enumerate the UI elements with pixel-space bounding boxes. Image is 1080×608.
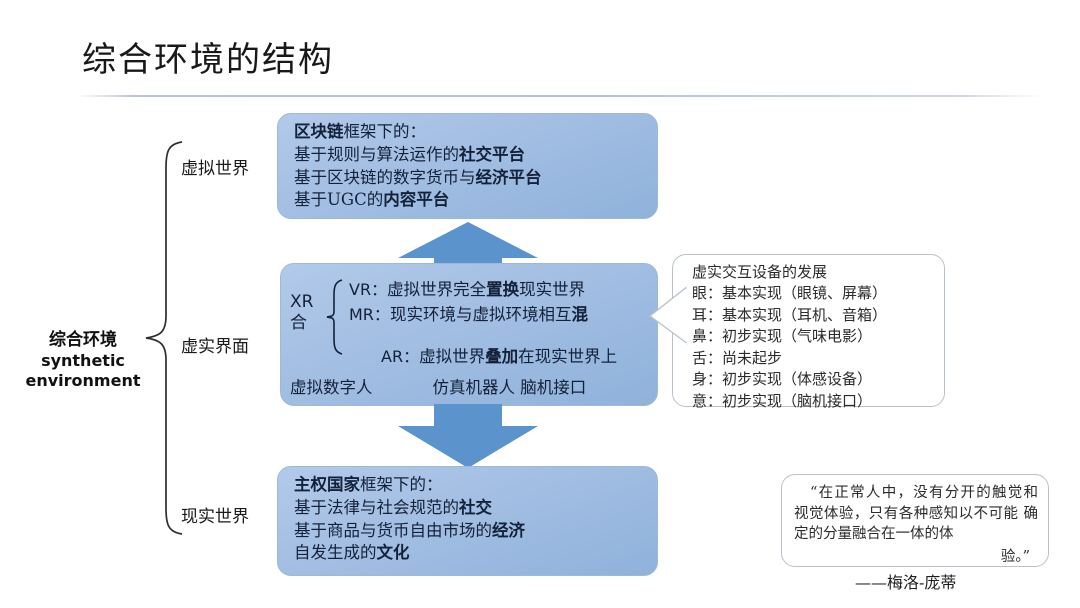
real-line-3: 基于商品与货币自由市场的经济 [294,520,657,543]
list-item: 舌：尚未起步 [692,348,942,369]
list-item: 意：初步实现（脑机接口） [692,391,942,412]
hierarchy-brace-icon [142,138,186,538]
devices-list: 虚实交互设备的发展 眼：基本实现（眼镜、屏幕） 耳：基本实现（耳机、音箱） 鼻：… [692,262,942,412]
root-label: 综合环境 synthetic environment [22,330,144,391]
xr-line-mr: MR：现实环境与虚拟环境相互混 [349,301,588,325]
xr-interface-box[interactable]: XR 合 VR：虚拟世界完全置换现实世界 MR：现实环境与虚拟环境相互混 AR：… [280,263,658,406]
real-line-4: 自发生成的文化 [294,542,657,565]
arrow-down-icon [398,404,538,468]
devices-heading: 虚实交互设备的发展 [692,262,942,283]
quote-callout[interactable]: “在正常人中，没有分开的触觉和 视觉体验，只有各种感知以不可能 确定的分量融合在… [781,474,1049,567]
root-label-en-1: synthetic [22,351,144,371]
xr-footer-term-1: 虚拟数字人 [290,374,373,398]
list-item: 鼻：初步实现（气味电影） [692,326,942,347]
virtual-world-lines: 区块链框架下的： 基于规则与算法运作的社交平台 基于区块链的数字货币与经济平台 … [278,114,657,212]
root-label-cn: 综合环境 [22,330,144,351]
xr-label: XR 合 [290,292,313,333]
title-divider [76,95,1042,97]
real-world-box[interactable]: 主权国家框架下的： 基于法律与社会规范的社交 基于商品与货币自由市场的经济 自发… [277,466,658,576]
xr-footer-term-2: 仿真机器人 脑机接口 [433,374,587,398]
virtual-line-2: 基于规则与算法运作的社交平台 [294,144,657,167]
real-line-2: 基于法律与社会规范的社交 [294,497,657,520]
xr-line-ar: AR：虚拟世界叠加在现实世界上 [381,343,617,367]
virtual-world-box[interactable]: 区块链框架下的： 基于规则与算法运作的社交平台 基于区块链的数字货币与经济平台 … [277,113,658,219]
xr-line-vr: VR：虚拟世界完全置换现实世界 [349,276,585,300]
list-item: 身：初步实现（体感设备） [692,369,942,390]
quote-attribution: ——梅洛-庞蒂 [855,569,956,593]
real-line-1: 主权国家框架下的： [294,474,657,497]
list-item: 眼：基本实现（眼镜、屏幕） [692,283,942,304]
quote-text: “在正常人中，没有分开的触觉和 视觉体验，只有各种感知以不可能 确定的分量融合在… [782,475,1048,545]
real-world-lines: 主权国家框架下的： 基于法律与社会规范的社交 基于商品与货币自由市场的经济 自发… [278,467,657,565]
quote-text-end: 验。” [782,545,1048,566]
devices-callout[interactable]: 虚实交互设备的发展 眼：基本实现（眼镜、屏幕） 耳：基本实现（耳机、音箱） 鼻：… [648,254,945,407]
list-item: 耳：基本实现（耳机、音箱） [692,305,942,326]
page-title: 综合环境的结构 [82,32,334,81]
virtual-line-3: 基于区块链的数字货币与经济平台 [294,167,657,190]
slide-canvas: 综合环境的结构 综合环境 synthetic environment 虚拟世界 … [0,0,1080,608]
virtual-line-4: 基于UGC的内容平台 [294,189,657,212]
tier-label-interface: 虚实界面 [181,332,249,357]
arrow-up-icon [398,222,538,266]
callout-tail-icon [648,284,688,346]
tier-label-real-world: 现实世界 [181,502,249,527]
xr-brace-icon [325,278,347,356]
root-label-en-2: environment [22,371,144,391]
virtual-line-1: 区块链框架下的： [294,121,657,144]
xr-footer-terms: 虚拟数字人 仿真机器人 脑机接口 [290,374,650,398]
tier-label-virtual-world: 虚拟世界 [181,154,249,179]
